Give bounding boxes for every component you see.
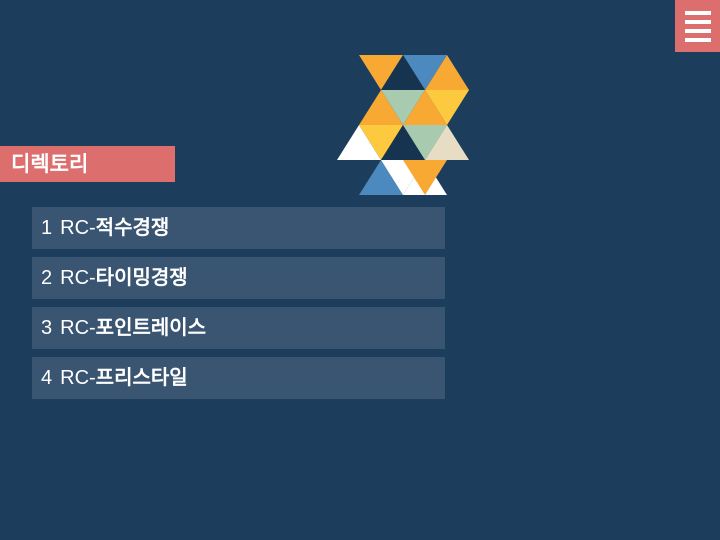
hamburger-menu-button[interactable]	[675, 0, 720, 52]
presentation-slide: 디렉토리 1 RC-적수경쟁 2 RC-타이밍경쟁 3 RC-포인트레이스 4 …	[0, 0, 720, 540]
directory-item-3-label: RC-포인트레이스	[60, 318, 206, 338]
hamburger-bar-3	[685, 29, 711, 33]
directory-item-4-index: 4	[41, 368, 52, 388]
section-title: 디렉토리	[0, 154, 88, 175]
directory-item-3[interactable]: 3 RC-포인트레이스	[32, 307, 445, 349]
directory-item-2-index: 2	[41, 268, 52, 288]
directory-item-3-index: 3	[41, 318, 52, 338]
directory-item-2-label: RC-타이밍경쟁	[60, 268, 188, 288]
directory-list: 1 RC-적수경쟁 2 RC-타이밍경쟁 3 RC-포인트레이스 4 RC-프리…	[32, 207, 445, 399]
directory-item-1[interactable]: 1 RC-적수경쟁	[32, 207, 445, 249]
hamburger-bar-4	[685, 38, 711, 42]
hamburger-bar-1	[685, 11, 711, 15]
directory-item-4-label: RC-프리스타일	[60, 368, 188, 388]
hamburger-bar-2	[685, 20, 711, 24]
logo-svg	[337, 55, 469, 195]
directory-item-1-label: RC-적수경쟁	[60, 218, 169, 238]
triangle-mosaic-logo	[337, 55, 469, 195]
directory-item-4[interactable]: 4 RC-프리스타일	[32, 357, 445, 399]
directory-item-2[interactable]: 2 RC-타이밍경쟁	[32, 257, 445, 299]
section-header-banner: 디렉토리	[0, 146, 175, 182]
directory-item-1-index: 1	[41, 218, 52, 238]
